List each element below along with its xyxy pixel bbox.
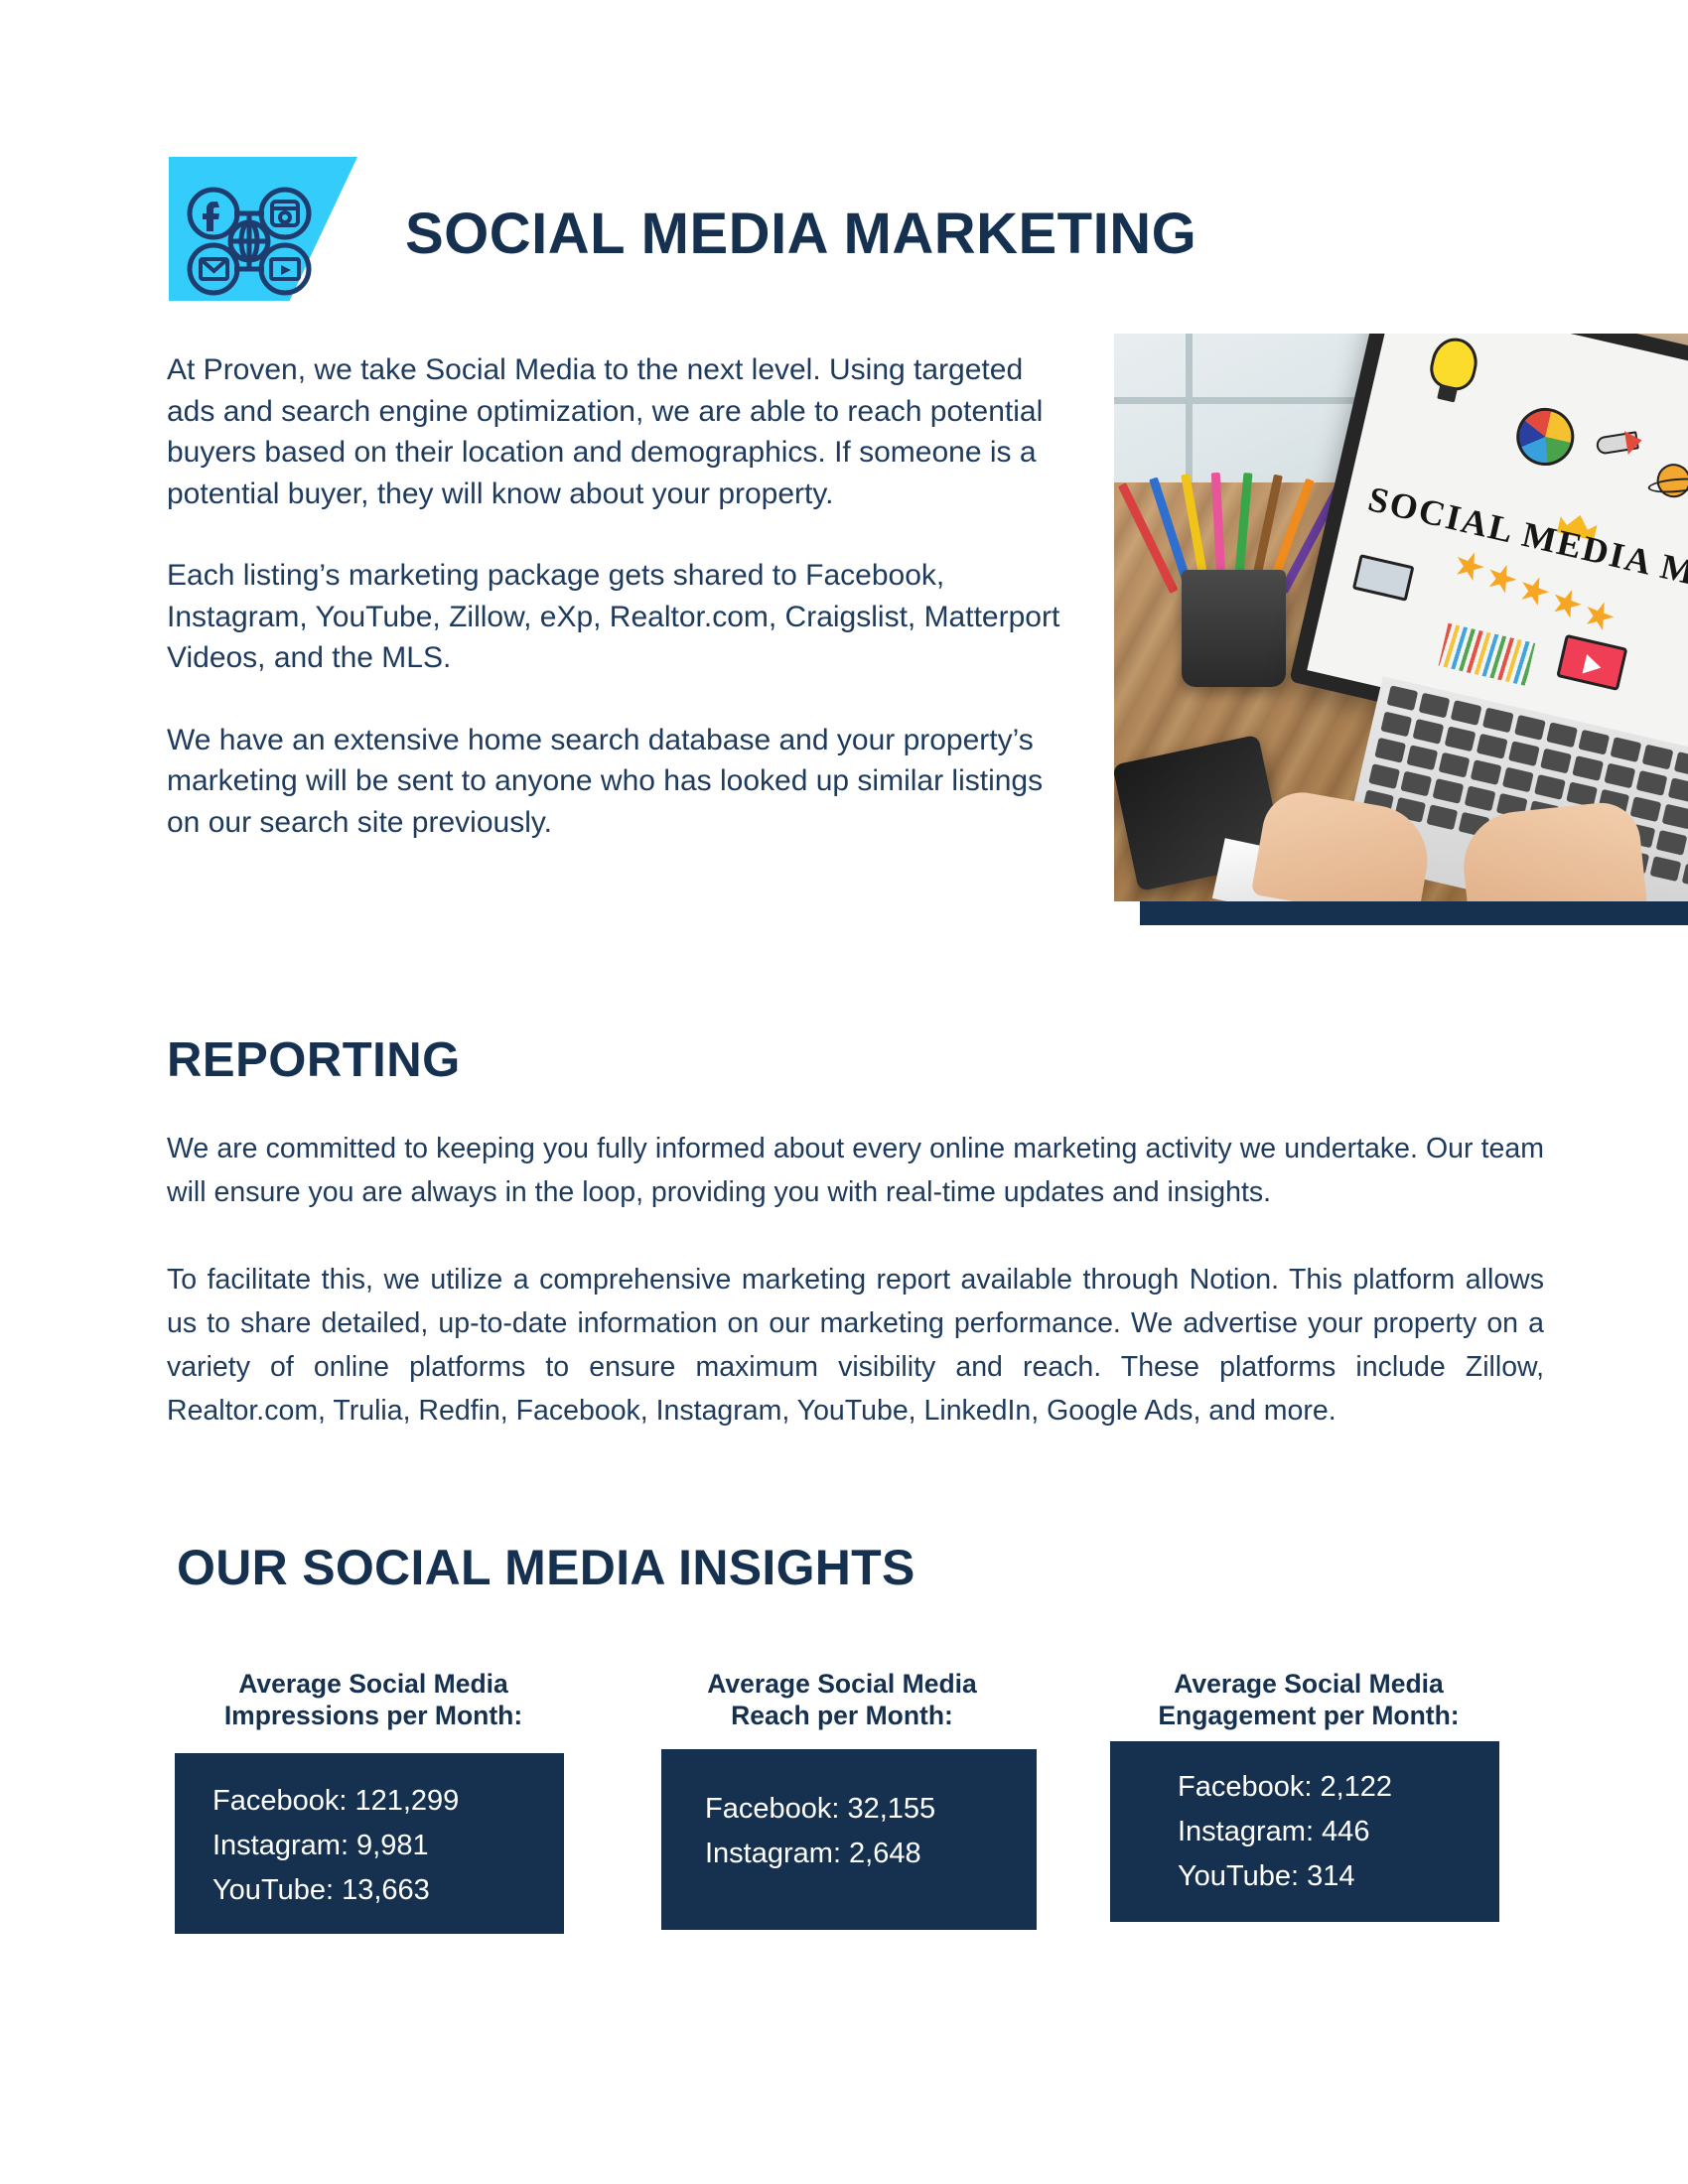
hero-photo-container: SOCIAL MEDIA MARKET <box>1114 334 1688 901</box>
photo-pie-chart-icon <box>1511 402 1581 472</box>
stat-line: Facebook: 32,155 <box>705 1787 1037 1832</box>
stat-card-title: Average Social Media Engagement per Mont… <box>1110 1668 1507 1731</box>
hero-photo: SOCIAL MEDIA MARKET <box>1114 334 1688 901</box>
intro-paragraph-2: Each listing’s marketing package gets sh… <box>167 555 1065 679</box>
stat-line: YouTube: 314 <box>1178 1854 1499 1899</box>
stat-card-title: Average Social Media Impressions per Mon… <box>175 1668 572 1731</box>
photo-planet-icon <box>1653 461 1688 501</box>
stat-line: Facebook: 2,122 <box>1178 1765 1499 1810</box>
stat-line: Instagram: 2,648 <box>705 1832 1037 1876</box>
stat-card-reach: Average Social Media Reach per Month: Fa… <box>643 1668 1041 1930</box>
stat-card-values: Facebook: 32,155 Instagram: 2,648 <box>661 1749 1037 1930</box>
document-page: SOCIAL MEDIA MARKETING At Proven, we tak… <box>0 0 1688 2184</box>
stat-card-engagement: Average Social Media Engagement per Mont… <box>1110 1668 1507 1922</box>
page-header: SOCIAL MEDIA MARKETING <box>0 0 1688 328</box>
reporting-paragraph-1: We are committed to keeping you fully in… <box>167 1127 1544 1214</box>
page-title: SOCIAL MEDIA MARKETING <box>405 201 1196 267</box>
intro-paragraph-3: We have an extensive home search databas… <box>167 720 1065 844</box>
stat-card-values: Facebook: 2,122 Instagram: 446 YouTube: … <box>1110 1741 1499 1922</box>
stat-card-values: Facebook: 121,299 Instagram: 9,981 YouTu… <box>175 1753 564 1934</box>
insights-stat-cards: Average Social Media Impressions per Mon… <box>167 1668 1557 2005</box>
photo-music-notes-icon <box>1439 623 1536 686</box>
reporting-heading: REPORTING <box>167 1032 461 1088</box>
social-network-icon <box>185 182 314 301</box>
stat-line: Instagram: 446 <box>1178 1810 1499 1854</box>
reporting-paragraph-2: To facilitate this, we utilize a compreh… <box>167 1258 1544 1433</box>
photo-laptop-icon <box>1352 554 1415 602</box>
photo-lightbulb-icon <box>1426 334 1482 394</box>
photo-video-player-icon <box>1556 634 1627 691</box>
hero-photo-underbar <box>1140 901 1688 925</box>
stat-card-impressions: Average Social Media Impressions per Mon… <box>175 1668 572 1934</box>
intro-text-block: At Proven, we take Social Media to the n… <box>167 349 1065 843</box>
reporting-text-block: We are committed to keeping you fully in… <box>167 1127 1544 1433</box>
photo-rocket-icon <box>1596 431 1639 455</box>
stat-line: YouTube: 13,663 <box>212 1868 564 1913</box>
stat-line: Instagram: 9,981 <box>212 1824 564 1868</box>
stat-card-title: Average Social Media Reach per Month: <box>643 1668 1041 1731</box>
stat-line: Facebook: 121,299 <box>212 1779 564 1824</box>
insights-heading: OUR SOCIAL MEDIA INSIGHTS <box>177 1539 915 1596</box>
intro-paragraph-1: At Proven, we take Social Media to the n… <box>167 349 1065 514</box>
photo-pencil-cup <box>1182 570 1286 687</box>
